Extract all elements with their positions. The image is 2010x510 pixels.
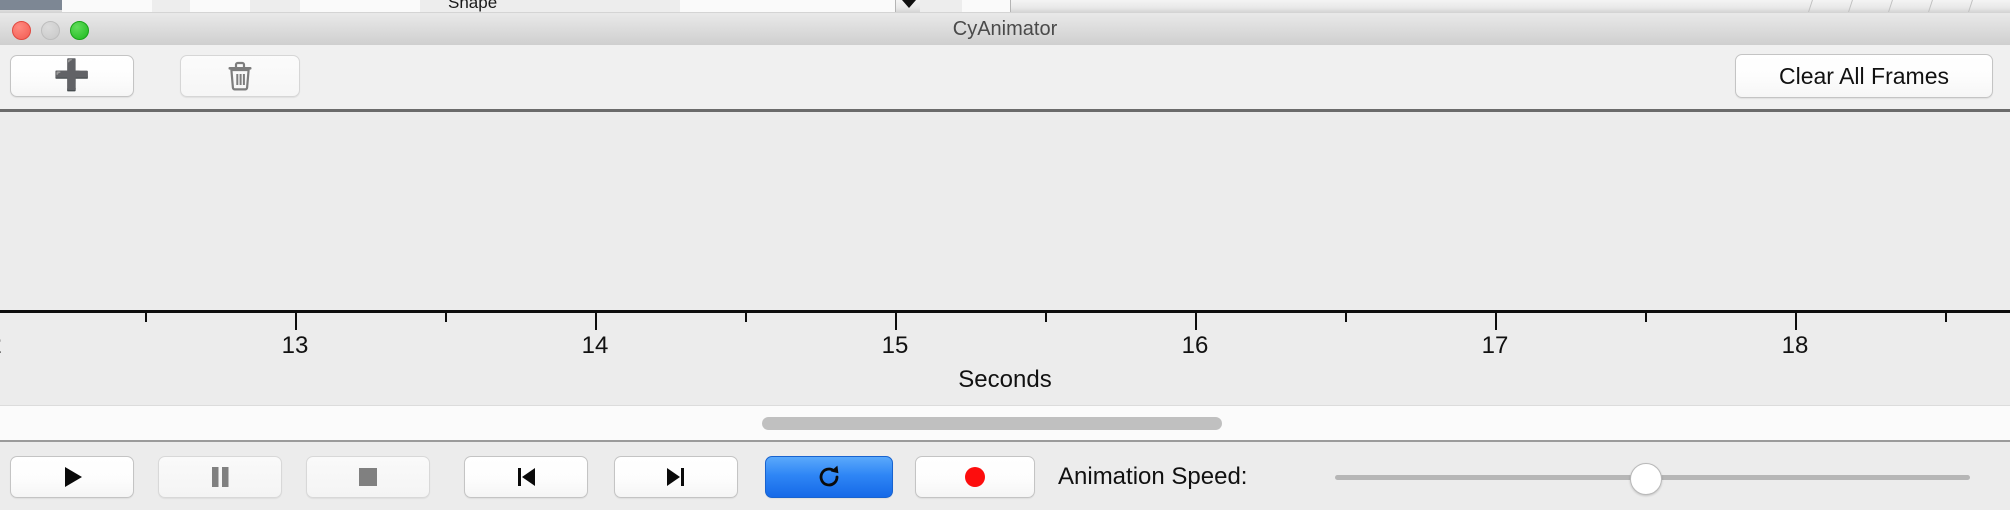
axis-title: Seconds [0,366,2010,394]
background-divider [1888,0,1893,12]
stop-icon [356,465,380,489]
record-button[interactable] [915,456,1035,498]
background-sort-arrow-icon [902,0,916,8]
record-icon [963,465,987,489]
skip-forward-icon [663,464,689,490]
axis-tick-minor [445,313,447,322]
background-cell [920,0,963,12]
skip-back-icon [513,464,539,490]
cyanimator-window: Shape CyAnimator ➕ [0,0,2010,510]
axis-tick-label: 17 [1482,332,1509,360]
window-controls [12,21,89,40]
frame-toolbar: ➕ Clear All Frames [0,45,2010,112]
timeline-axis: 2131415161718 Seconds [0,310,2010,405]
axis-tick-major [595,313,597,330]
add-frame-button[interactable]: ➕ [10,55,134,97]
background-cell [250,0,301,12]
axis-tick-minor [1645,313,1647,322]
plus-icon: ➕ [53,61,90,91]
background-window-text: Shape [448,0,497,13]
title-bar: CyAnimator [0,13,2010,46]
axis-tick-minor [1345,313,1347,322]
axis-tick-minor [1045,313,1047,322]
minimize-button[interactable] [41,21,60,40]
axis-tick-label: 15 [882,332,909,360]
axis-tick-label: 2 [0,332,2,360]
axis-tick-label: 14 [582,332,609,360]
animation-speed-label: Animation Speed: [1058,456,1247,498]
timeline-panel[interactable]: MCM1 MCM1 MCM1 [0,112,2010,310]
background-divider [1848,0,1853,12]
pause-icon [208,464,232,490]
axis-line [0,310,2010,313]
window-title: CyAnimator [0,13,2010,45]
background-cell [152,0,191,12]
close-button[interactable] [12,21,31,40]
zoom-button[interactable] [70,21,89,40]
trash-icon [227,61,253,91]
background-selection [0,0,62,10]
clear-all-frames-label: Clear All Frames [1779,63,1949,90]
background-cell [300,0,421,12]
clear-all-frames-button[interactable]: Clear All Frames [1735,54,1993,98]
axis-tick-label: 16 [1182,332,1209,360]
background-cell [962,0,1011,12]
pause-button[interactable] [158,456,282,498]
animation-speed-slider[interactable] [1335,475,1970,480]
axis-tick-major [1795,313,1797,330]
background-cell [62,0,153,12]
axis-tick-label: 18 [1782,332,1809,360]
play-icon [59,464,85,490]
background-divider [1928,0,1933,12]
axis-tick-minor [1945,313,1947,322]
loop-icon [815,463,843,491]
skip-back-button[interactable] [464,456,588,498]
axis-tick-major [895,313,897,330]
skip-forward-button[interactable] [614,456,738,498]
timeline-scrollbar[interactable] [0,405,2010,441]
background-divider [1968,0,1973,12]
playback-control-bar: Animation Speed: [0,440,2010,510]
axis-tick-major [1495,313,1497,330]
axis-tick-major [295,313,297,330]
axis-tick-minor [145,313,147,322]
loop-button[interactable] [765,456,893,498]
axis-tick-major [1195,313,1197,330]
animation-speed-slider-thumb[interactable] [1630,463,1662,495]
axis-tick-label: 13 [282,332,309,360]
axis-tick-minor [745,313,747,322]
delete-frame-button[interactable] [180,55,300,97]
stop-button[interactable] [306,456,430,498]
background-cell [680,0,896,12]
background-divider [1808,0,1813,12]
play-button[interactable] [10,456,134,498]
background-window-strip[interactable]: Shape [0,0,2010,14]
background-cell [190,0,251,12]
scrollbar-thumb[interactable] [762,417,1222,430]
